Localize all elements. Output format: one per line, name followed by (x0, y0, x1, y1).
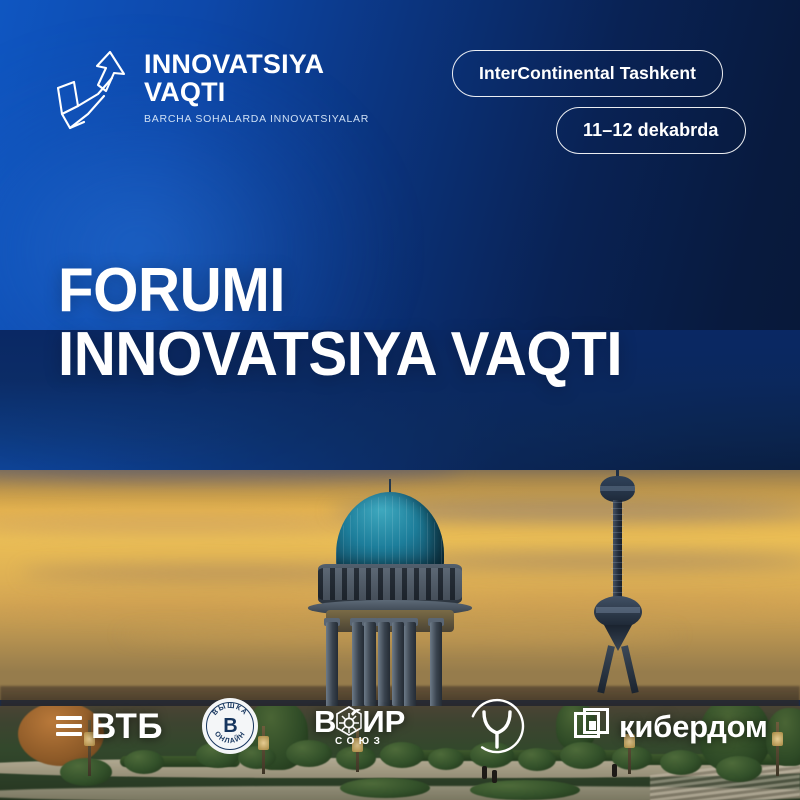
sponsor-kiberdom: кибердом (574, 708, 768, 744)
circular-seal-icon: ВЫШКА ОНЛАЙН В (202, 698, 258, 754)
sponsor-voir: В ИР СОЮЗ (314, 705, 405, 747)
date-badge[interactable]: 11–12 dekabrda (556, 107, 746, 154)
headline-block: FORUMI INNOVATSIYA VAQTI (58, 262, 658, 383)
sponsor-vtb: ВТБ (56, 709, 163, 744)
y-circle-icon (468, 697, 526, 755)
seal-arc-top: ВЫШКА (210, 701, 250, 717)
venue-badge[interactable]: InterContinental Tashkent (452, 50, 723, 97)
sponsor-row: ВТБ ВЫШКА ОНЛАЙН (0, 690, 800, 762)
upward-arrow-swoosh-icon (54, 44, 132, 136)
voir-prefix: В (314, 706, 336, 737)
voir-subtitle: СОЮЗ (335, 736, 384, 747)
headline-line-2: INNOVATSIYA VAQTI (58, 326, 622, 384)
brand-logo: INNOVATSIYA VAQTI BARCHA SOHALARDA INNOV… (54, 44, 369, 136)
logo-line-1: INNOVATSIYA (144, 51, 369, 77)
logo-tagline: BARCHA SOHALARDA INNOVATSIYALAR (144, 113, 369, 125)
sponsor-vtb-label: ВТБ (91, 709, 163, 744)
nested-squares-icon (574, 708, 610, 744)
sponsor-vyshka: ВЫШКА ОНЛАЙН В (202, 698, 258, 754)
event-poster: INNOVATSIYA VAQTI BARCHA SOHALARDA INNOV… (0, 0, 800, 800)
voir-suffix: ИР (362, 706, 405, 737)
vtb-bars-icon (56, 716, 82, 737)
voir-hex-icon (334, 705, 364, 737)
seal-arc-bottom: ОНЛАЙН (213, 729, 247, 745)
sponsor-kiberdom-label: кибердом (619, 711, 768, 742)
logo-line-2: VAQTI (144, 79, 369, 105)
sponsor-ymark (468, 697, 526, 755)
headline-line-1: FORUMI (58, 262, 622, 320)
